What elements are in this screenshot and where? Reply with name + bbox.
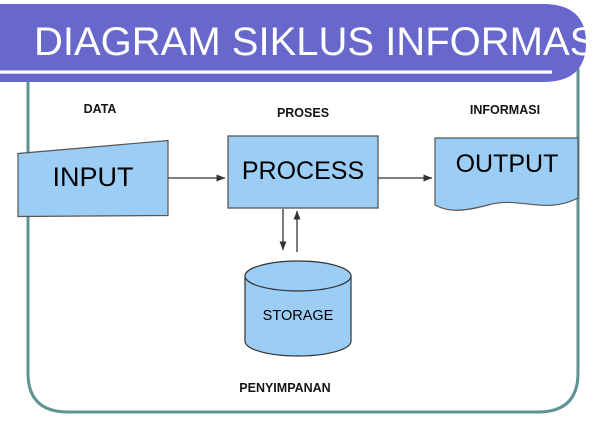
slide-title: DIAGRAM SIKLUS INFORMASI [34, 20, 574, 65]
caption-data: DATA [35, 102, 165, 116]
slide-canvas: DIAGRAM SIKLUS INFORMASI DATA PROSES INF… [0, 0, 600, 423]
node-label-input: INPUT [18, 162, 168, 193]
caption-proses: PROSES [238, 106, 368, 120]
caption-penyimpanan: PENYIMPANAN [205, 381, 365, 395]
node-label-process: PROCESS [228, 157, 378, 186]
title-underline [0, 71, 552, 74]
caption-informasi: INFORMASI [435, 103, 575, 117]
node-label-storage: STORAGE [245, 308, 351, 324]
node-label-output: OUTPUT [437, 150, 577, 179]
